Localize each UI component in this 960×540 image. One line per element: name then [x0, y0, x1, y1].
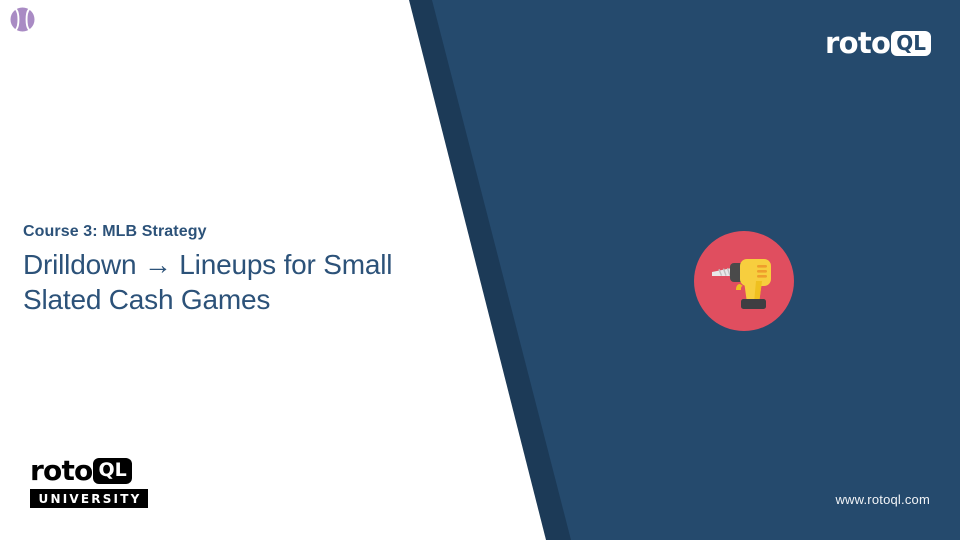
university-label: UNIVERSITY: [37, 492, 142, 506]
footer-url[interactable]: www.rotoql.com: [835, 492, 930, 507]
rotoql-university-logo[interactable]: roto QL UNIVERSITY: [30, 456, 148, 508]
rotoql-wordmark[interactable]: roto QL: [825, 28, 931, 58]
university-ql-text: QL: [98, 461, 126, 480]
drill-icon: [710, 251, 778, 311]
university-roto-text: roto: [30, 457, 92, 485]
university-ql-badge: QL: [93, 458, 131, 484]
page-title: Drilldown → Lineups for Small Slated Cas…: [23, 247, 453, 317]
title-block: Course 3: MLB Strategy Drilldown → Lineu…: [23, 222, 453, 317]
baseball-icon: [10, 7, 35, 32]
drill-badge: [694, 231, 794, 331]
slide-canvas: roto QL Course 3: MLB Strategy Drilldown…: [0, 0, 960, 540]
university-logo-wordmark: roto QL: [30, 456, 148, 486]
course-label: Course 3: MLB Strategy: [23, 222, 453, 242]
wordmark-roto-text: roto: [825, 29, 890, 58]
wordmark-ql-badge: QL: [891, 31, 931, 56]
wordmark-ql-text: QL: [896, 33, 926, 53]
university-bar: UNIVERSITY: [30, 489, 148, 508]
